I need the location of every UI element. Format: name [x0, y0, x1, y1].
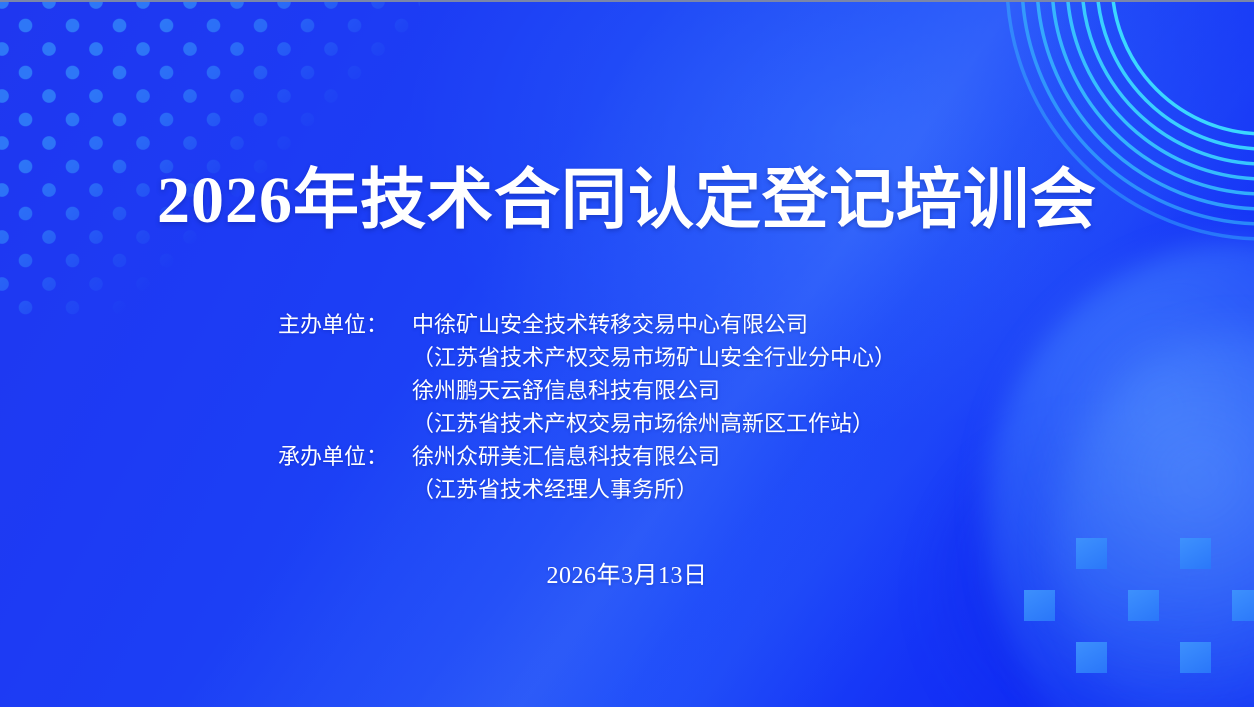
organizer-list: 主办单位： 中徐矿山安全技术转移交易中心有限公司 （江苏省技术产权交易市场矿山安… — [278, 308, 896, 506]
organizer-value: 徐州众研美汇信息科技有限公司 — [412, 440, 720, 473]
organizer-row: 徐州鹏天云舒信息科技有限公司 — [278, 374, 896, 407]
page-title: 2026年技术合同认定登记培训会 — [0, 168, 1254, 234]
event-date: 2026年3月13日 — [0, 560, 1254, 592]
presentation-slide: 2026年技术合同认定登记培训会 主办单位： 中徐矿山安全技术转移交易中心有限公… — [0, 0, 1254, 707]
organizer-row: （江苏省技术产权交易市场徐州高新区工作站） — [278, 407, 896, 440]
organizer-row: （江苏省技术经理人事务所） — [278, 473, 896, 506]
organizer-label: 承办单位： — [278, 440, 412, 473]
organizer-row: 主办单位： 中徐矿山安全技术转移交易中心有限公司 — [278, 308, 896, 341]
organizer-row: （江苏省技术产权交易市场矿山安全行业分中心） — [278, 341, 896, 374]
organizer-row: 承办单位： 徐州众研美汇信息科技有限公司 — [278, 440, 896, 473]
slide-content: 2026年技术合同认定登记培训会 主办单位： 中徐矿山安全技术转移交易中心有限公… — [0, 2, 1254, 707]
organizer-value: 中徐矿山安全技术转移交易中心有限公司 — [412, 308, 808, 341]
organizer-label: 主办单位： — [278, 308, 412, 341]
organizer-value: （江苏省技术经理人事务所） — [412, 473, 698, 506]
organizer-value: （江苏省技术产权交易市场徐州高新区工作站） — [412, 407, 874, 440]
organizer-value: 徐州鹏天云舒信息科技有限公司 — [412, 374, 720, 407]
organizer-value: （江苏省技术产权交易市场矿山安全行业分中心） — [412, 341, 896, 374]
